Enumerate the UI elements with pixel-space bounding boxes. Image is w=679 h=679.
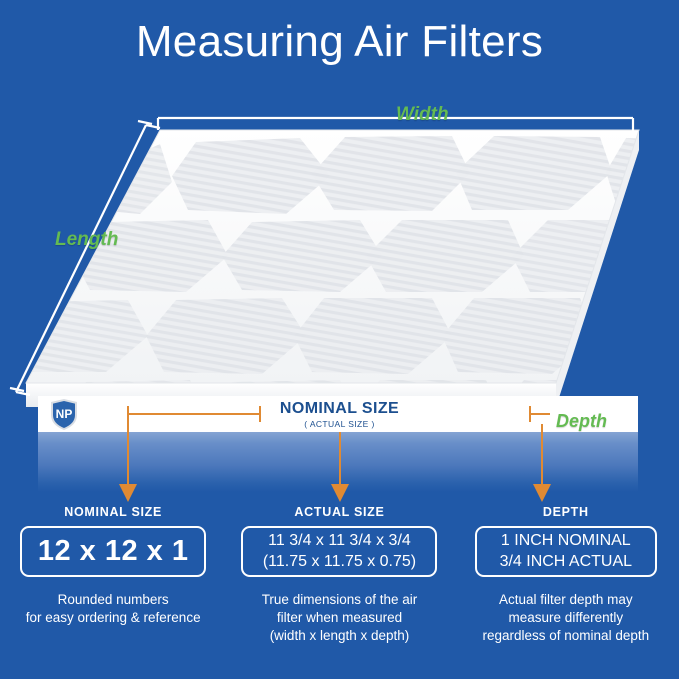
nominal-size-value-box: 12 x 12 x 1 [20,526,206,577]
value-line: (11.75 x 11.75 x 0.75) [263,552,416,572]
column-caption: True dimensions of the air filter when m… [234,591,444,645]
actual-size-value-box: 11 3/4 x 11 3/4 x 3/4 (11.75 x 11.75 x 0… [241,526,437,577]
column-caption: Rounded numbers for easy ordering & refe… [8,591,218,627]
column-heading: NOMINAL SIZE [64,505,162,519]
column-depth: DEPTH 1 INCH NOMINAL 3/4 INCH ACTUAL Act… [453,505,679,645]
caption-line: regardless of nominal depth [461,627,671,645]
caption-line: Rounded numbers [8,591,218,609]
infographic-canvas: Measuring Air Filters [0,0,679,679]
callout-arrowheads [119,484,551,502]
column-heading: ACTUAL SIZE [294,505,384,519]
column-caption: Actual filter depth may measure differen… [461,591,671,645]
column-actual-size: ACTUAL SIZE 11 3/4 x 11 3/4 x 3/4 (11.75… [226,505,452,645]
caption-line: for easy ordering & reference [8,609,218,627]
summary-columns: NOMINAL SIZE 12 x 12 x 1 Rounded numbers… [0,505,679,645]
caption-line: filter when measured [234,609,444,627]
depth-value-box: 1 INCH NOMINAL 3/4 INCH ACTUAL [475,526,657,577]
caption-line: measure differently [461,609,671,627]
value-line: 12 x 12 x 1 [38,535,189,568]
value-line: 1 INCH NOMINAL [501,531,631,551]
caption-line: True dimensions of the air [234,591,444,609]
value-line: 11 3/4 x 11 3/4 x 3/4 [268,531,411,551]
column-heading: DEPTH [543,505,589,519]
column-nominal-size: NOMINAL SIZE 12 x 12 x 1 Rounded numbers… [0,505,226,645]
caption-line: Actual filter depth may [461,591,671,609]
value-line: 3/4 INCH ACTUAL [500,552,632,572]
caption-line: (width x length x depth) [234,627,444,645]
